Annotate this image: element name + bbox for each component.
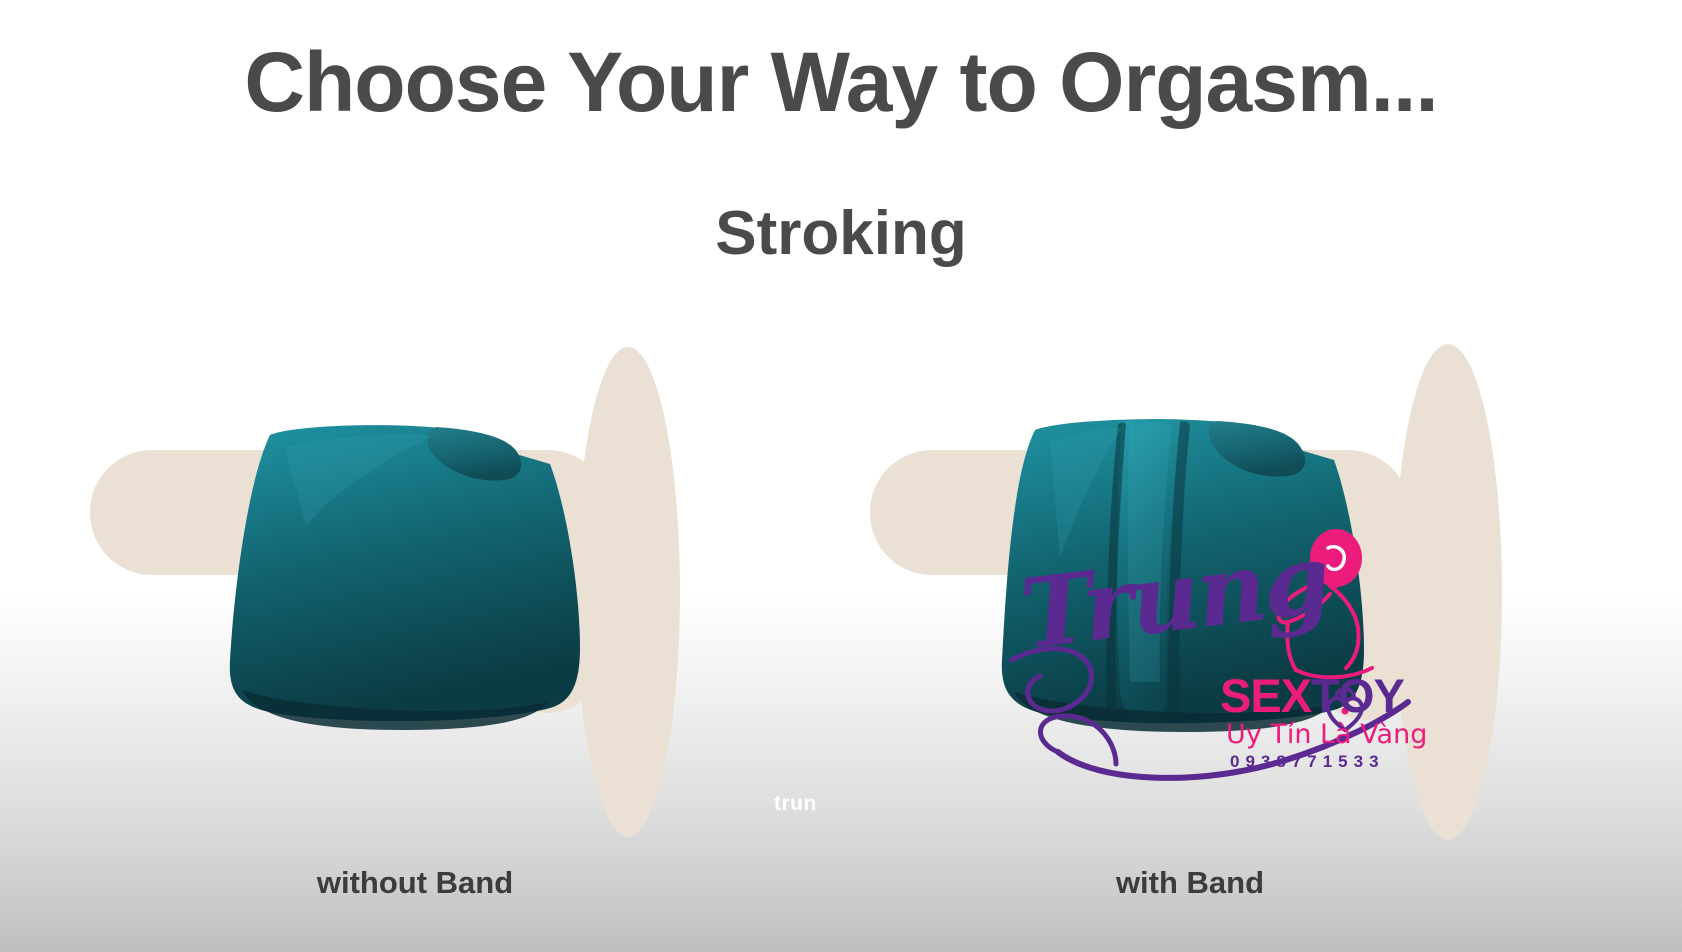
faint-brand-watermark-left: trun bbox=[774, 792, 817, 816]
watermark-brand: SEXTOY bbox=[1220, 670, 1404, 722]
page-subtitle: Stroking bbox=[0, 196, 1682, 272]
slide-canvas: Choose Your Way to Orgasm... Stroking bbox=[0, 0, 1682, 952]
caption-with-band: with Band bbox=[810, 862, 1570, 904]
brand-watermark: Trung SEXTOY Uy Tín Là Vàng 0938771533 bbox=[1004, 528, 1424, 778]
page-title: Choose Your Way to Orgasm... bbox=[0, 34, 1682, 130]
anatomy-silhouette-left bbox=[80, 330, 840, 890]
caption-without-band: without Band bbox=[35, 862, 795, 904]
watermark-brand-toy: TOY bbox=[1311, 669, 1404, 722]
product-panel-without-band: trun bbox=[80, 330, 840, 890]
watermark-tagline: Uy Tín Là Vàng bbox=[1226, 720, 1427, 750]
watermark-phone-number: 0938771533 bbox=[1230, 752, 1385, 772]
watermark-brand-sex: SEX bbox=[1220, 669, 1311, 722]
